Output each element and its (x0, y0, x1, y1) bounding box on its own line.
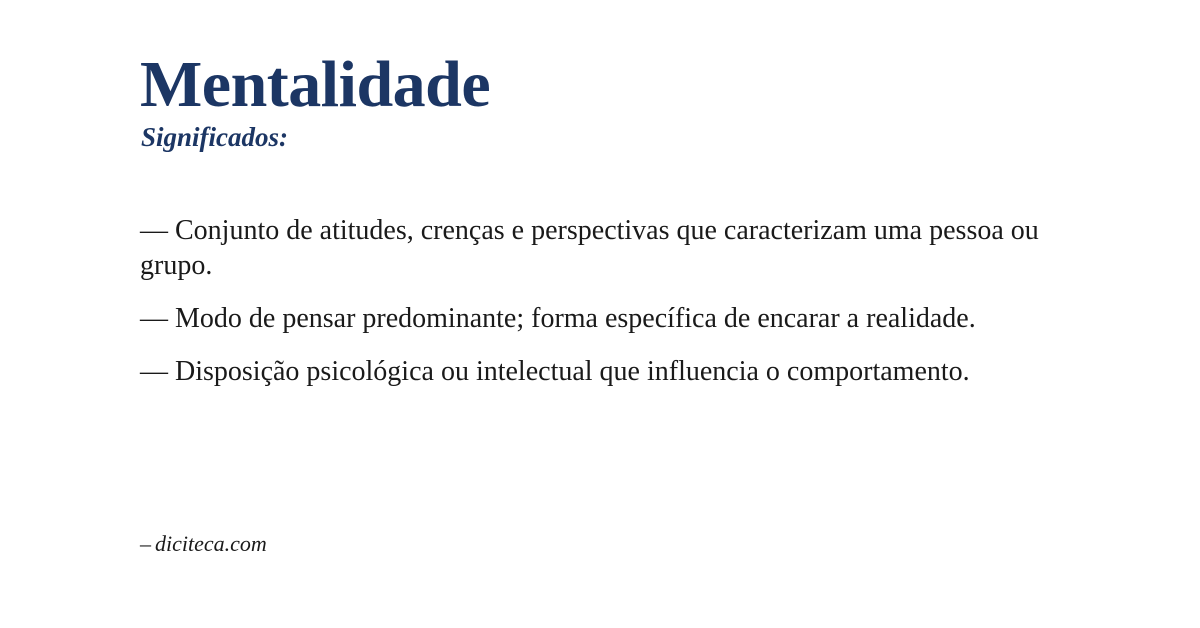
card-header: Mentalidade Significados: (140, 52, 1100, 151)
definition-text: Conjunto de atitudes, crenças e perspect… (140, 215, 1039, 281)
definition-text: Modo de pensar predominante; forma espec… (175, 303, 976, 334)
definition-text: Disposição psicológica ou intelectual qu… (175, 356, 970, 387)
page-title: Mentalidade (140, 52, 1100, 118)
definition-list: — Conjunto de atitudes, crenças e perspe… (140, 213, 1060, 389)
source-link[interactable]: diciteca.com (155, 531, 267, 556)
list-item: — Conjunto de atitudes, crenças e perspe… (140, 213, 1060, 283)
em-dash-marker: — (140, 215, 168, 246)
em-dash-marker: — (140, 356, 168, 387)
source-attribution: –diciteca.com (140, 533, 740, 555)
list-item: — Disposição psicológica ou intelectual … (140, 354, 1060, 389)
subtitle-label: Significados: (141, 124, 1100, 151)
card-content: Mentalidade Significados: — Conjunto de … (140, 0, 1100, 628)
card-footer: –diciteca.com (140, 533, 740, 555)
dash-marker: – (140, 531, 155, 556)
em-dash-marker: — (140, 303, 168, 334)
definition-card: Mentalidade Significados: — Conjunto de … (0, 0, 1200, 628)
list-item: — Modo de pensar predominante; forma esp… (140, 301, 1060, 336)
